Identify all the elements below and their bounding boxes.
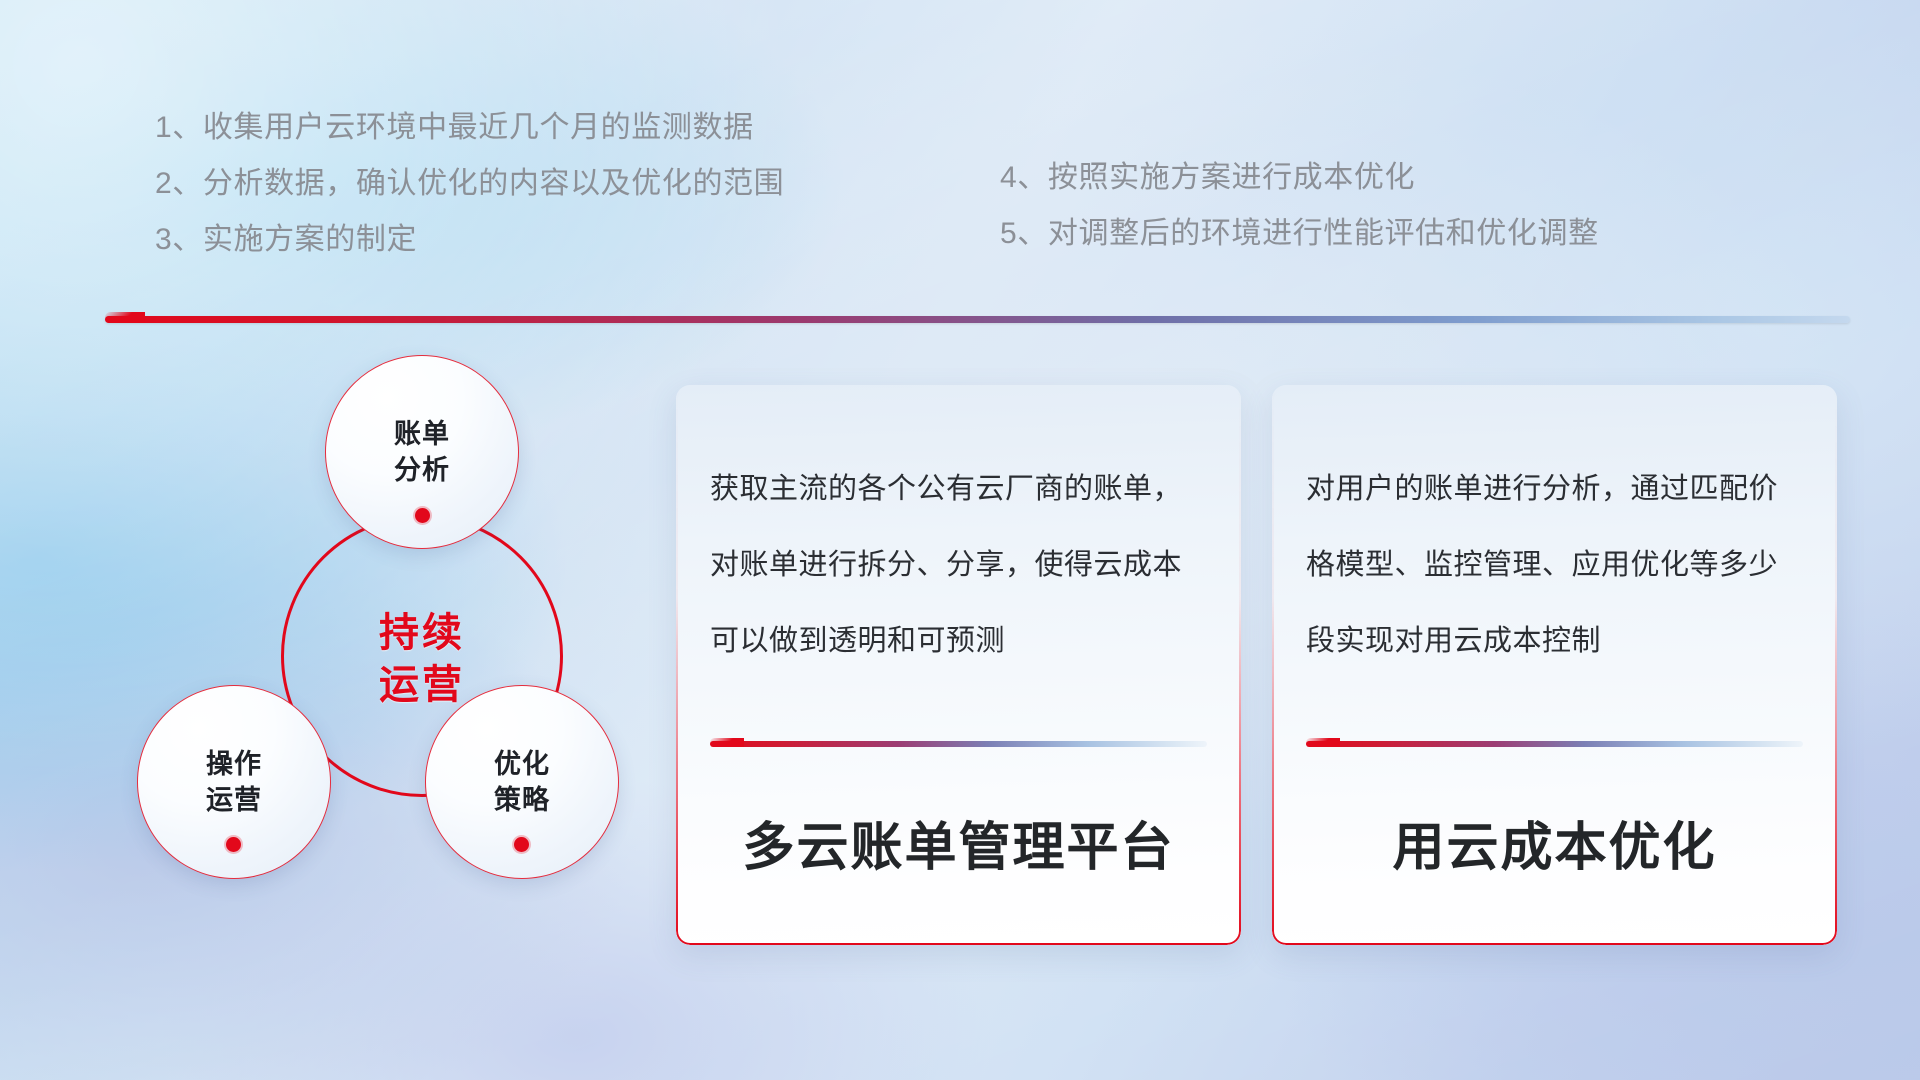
card-1-body-text: 获取主流的各个公有云厂商的账单，对账单进行拆分、分享，使得云成本可以做到透明和可…	[710, 451, 1207, 679]
step-item-2: 2、分析数据，确认优化的内容以及优化的范围	[155, 156, 784, 212]
card-1-divider-line	[710, 741, 1207, 747]
venn-center-line-2: 运营	[379, 659, 465, 711]
card-2-title: 用云成本优化	[1272, 805, 1837, 880]
venn-node-dot-right	[514, 837, 529, 852]
step-item-5: 5、对调整后的环境进行性能评估和优化调整	[1000, 206, 1599, 262]
step-item-1: 1、收集用户云环境中最近几个月的监测数据	[155, 100, 784, 156]
steps-right-column: 4、按照实施方案进行成本优化 5、对调整后的环境进行性能评估和优化调整	[1000, 150, 1599, 262]
venn-bubble-left-line-2: 运营	[206, 782, 262, 818]
card-2-body-text: 对用户的账单进行分析，通过匹配价格模型、监控管理、应用优化等多少段实现对用云成本…	[1306, 451, 1803, 679]
steps-left-column: 1、收集用户云环境中最近几个月的监测数据 2、分析数据，确认优化的内容以及优化的…	[155, 100, 784, 268]
card-cloud-cost-optimization[interactable]: 对用户的账单进行分析，通过匹配价格模型、监控管理、应用优化等多少段实现对用云成本…	[1272, 385, 1837, 945]
card-1-title: 多云账单管理平台	[676, 805, 1241, 880]
venn-center-line-1: 持续	[379, 607, 465, 659]
venn-bubble-right-line-2: 策略	[494, 782, 550, 818]
venn-bubble-top-line-1: 账单	[394, 416, 450, 452]
venn-node-dot-left	[226, 837, 241, 852]
venn-bubble-left-line-1: 操作	[206, 746, 262, 782]
venn-diagram: 持续 运营 账单 分析 操作 运营 优化 策略	[95, 355, 615, 955]
venn-node-dot-top	[415, 508, 430, 523]
step-item-4: 4、按照实施方案进行成本优化	[1000, 150, 1599, 206]
card-2-divider-line	[1306, 741, 1803, 747]
header-divider-line	[105, 316, 1850, 323]
venn-bubble-right-line-1: 优化	[494, 746, 550, 782]
step-item-3: 3、实施方案的制定	[155, 212, 784, 268]
venn-bubble-top-line-2: 分析	[394, 452, 450, 488]
card-multicloud-billing-platform[interactable]: 获取主流的各个公有云厂商的账单，对账单进行拆分、分享，使得云成本可以做到透明和可…	[676, 385, 1241, 945]
